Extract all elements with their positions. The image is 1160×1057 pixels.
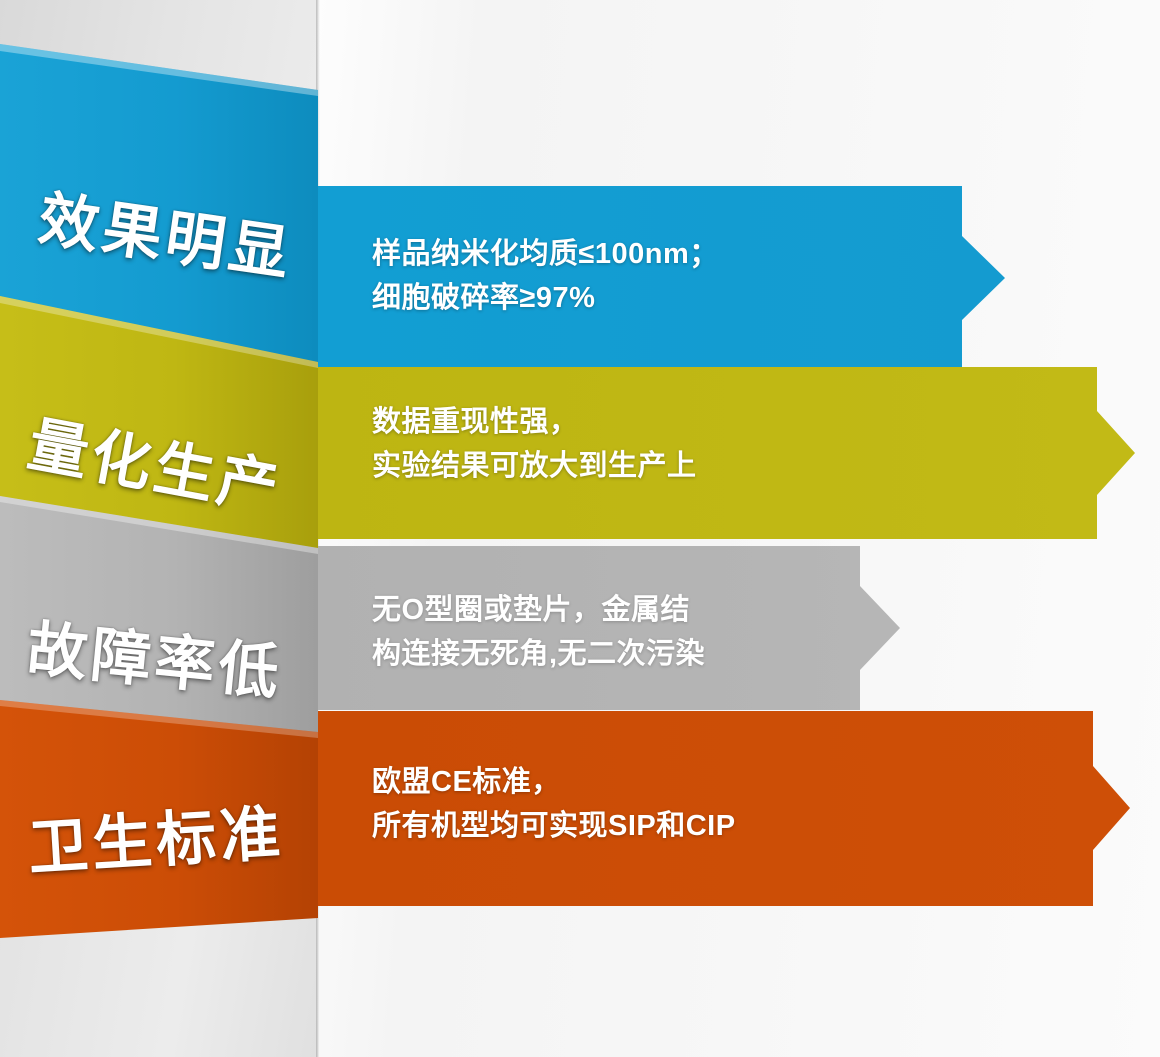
- band-effect-body: 样品纳米化均质≤100nm； 细胞破碎率≥97%: [372, 232, 719, 320]
- infographic-canvas: 效果明显 样品纳米化均质≤100nm； 细胞破碎率≥97%: [0, 0, 1160, 1057]
- band-quantified-production-body: 数据重现性强， 实验结果可放大到生产上: [372, 400, 697, 488]
- band-hygiene-standard-body: 欧盟CE标准， 所有机型均可实现SIP和CIP: [372, 760, 736, 848]
- band-hygiene-standard-label: 卫生标准: [25, 784, 286, 886]
- band-low-failure-rate-body: 无O型圈或垫片，金属结 构连接无死角,无二次污染: [372, 588, 705, 676]
